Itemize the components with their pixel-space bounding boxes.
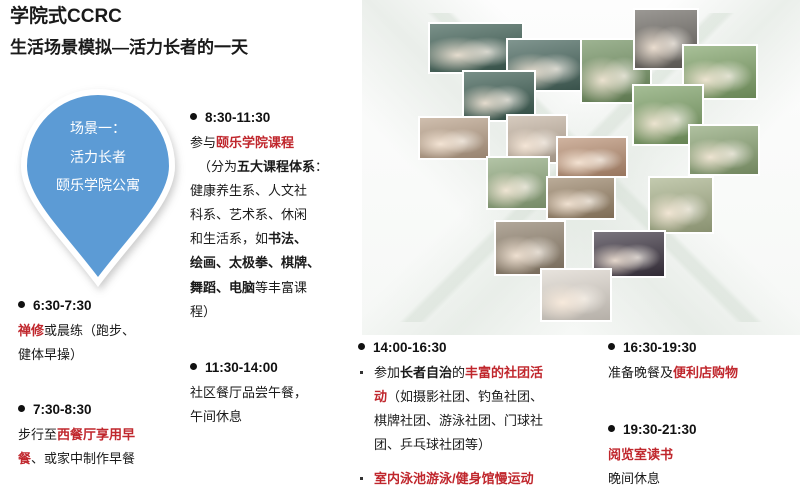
text-span: 步行至	[18, 427, 57, 442]
collage-photo-couple-relaxing-spa	[542, 270, 610, 320]
text-line: 棋牌社团、游泳社团、门球社	[374, 409, 588, 433]
text-span: 禅修	[18, 323, 44, 338]
text-line: 准备晚餐及便利店购物	[608, 361, 793, 385]
bullet-icon	[190, 113, 197, 120]
text-span: 等丰富课	[255, 280, 307, 295]
schedule-sub-item: 室内泳池游泳/健身馆慢运动	[358, 467, 588, 491]
scene-pin-shape	[18, 88, 178, 288]
text-line: 团、乒乓球社团等）	[374, 433, 588, 457]
schedule-time-1400: 14:00-16:30	[358, 338, 588, 358]
bullet-icon	[608, 425, 615, 432]
schedule-time-1930: 19:30-21:30	[608, 420, 793, 440]
text-span: 长者自治	[400, 365, 452, 380]
text-span: 室内泳池游泳/健身馆慢运动	[374, 471, 534, 486]
text-line: 午间休息	[190, 405, 355, 429]
text-line: 餐、或家中制作早餐	[18, 447, 198, 471]
text-span: 参加	[374, 365, 400, 380]
schedule-time-0830: 8:30-11:30	[190, 108, 355, 128]
text-line: 科系、艺术系、休闲	[190, 203, 355, 227]
text-span: 、或家中制作早餐	[31, 451, 135, 466]
text-span: 丰富的社团活	[465, 365, 543, 380]
text-line: 社区餐厅品尝午餐，	[190, 381, 355, 405]
page-title-main: 学院式CCRC	[10, 4, 360, 30]
text-span: 西餐厅享用早	[57, 427, 135, 442]
text-span: 书法、	[268, 231, 307, 246]
text-span: 便利店购物	[673, 365, 738, 380]
text-line: 参加长者自治的丰富的社团活	[374, 361, 588, 385]
text-span: 棋牌社团、游泳社团、门球社	[374, 413, 543, 428]
collage-photo-family-flowers-table	[558, 138, 626, 176]
collage-photo-grandparent-grandchild	[488, 158, 548, 208]
schedule-entry-0630: 6:30-7:30 禅修或晨练（跑步、健体早操）	[18, 296, 193, 367]
text-span: （分为	[198, 159, 237, 174]
text-line: （分为五大课程体系：	[190, 155, 355, 179]
schedule-entry-1400: 14:00-16:30 参加长者自治的丰富的社团活动（如摄影社团、钓鱼社团、棋牌…	[358, 338, 588, 491]
collage-photo-dining-with-friends	[420, 118, 488, 158]
text-span: 舞蹈、电脑	[190, 280, 255, 295]
bullet-icon	[18, 405, 25, 412]
bullet-icon	[608, 343, 615, 350]
text-span: 五大课程体系	[237, 159, 315, 174]
schedule-body-0830: 参与颐乐学院课程（分为五大课程体系：健康养生系、人文社科系、艺术系、休闲和生活系…	[190, 131, 355, 323]
text-span: 社区餐厅品尝午餐，	[190, 385, 307, 400]
text-line: 动（如摄影社团、钓鱼社团、	[374, 385, 588, 409]
text-line: 禅修或晨练（跑步、	[18, 319, 193, 343]
bullet-icon	[18, 301, 25, 308]
text-line: 参与颐乐学院课程	[190, 131, 355, 155]
text-span: 动	[374, 389, 387, 404]
text-line: 舞蹈、电脑等丰富课	[190, 276, 355, 300]
text-span: ：	[315, 159, 328, 174]
page-title: 学院式CCRC 生活场景模拟—活力长者的一天	[10, 4, 360, 60]
senior-lifestyle-photo-collage	[362, 0, 800, 335]
collage-photo-garden-play-child	[690, 126, 758, 174]
text-span: 的	[452, 365, 465, 380]
text-span: 准备晚餐及	[608, 365, 673, 380]
text-span: 餐	[18, 451, 31, 466]
schedule-time-1130: 11:30-14:00	[190, 358, 355, 378]
schedule-time-0630: 6:30-7:30	[18, 296, 193, 316]
text-span: 健康养生系、人文社	[190, 183, 307, 198]
schedule-body-0730: 步行至西餐厅享用早餐、或家中制作早餐	[18, 423, 198, 471]
text-span: 和生活系，如	[190, 231, 268, 246]
schedule-body-1130: 社区餐厅品尝午餐，午间休息	[190, 381, 355, 429]
text-span: 颐乐学院课程	[216, 135, 294, 150]
text-span: 阅览室读书	[608, 447, 673, 462]
text-line: 阅览室读书	[608, 443, 793, 467]
collage-photo-music-performance-hall	[496, 222, 564, 274]
text-span: 参与	[190, 135, 216, 150]
text-line: 健体早操）	[18, 343, 193, 367]
text-line: 和生活系，如书法、	[190, 227, 355, 251]
schedule-entry-0730: 7:30-8:30 步行至西餐厅享用早餐、或家中制作早餐	[18, 400, 198, 471]
text-span: 午间休息	[190, 409, 242, 424]
schedule-entry-1130: 11:30-14:00 社区餐厅品尝午餐，午间休息	[190, 358, 355, 429]
collage-photo-family-gathering-room	[548, 178, 614, 218]
bullet-icon	[190, 363, 197, 370]
text-line: 室内泳池游泳/健身馆慢运动	[374, 467, 588, 491]
schedule-body-1400: 参加长者自治的丰富的社团活动（如摄影社团、钓鱼社团、棋牌社团、游泳社团、门球社团…	[358, 361, 588, 491]
collage-photo-classroom-teaching-3	[464, 72, 534, 120]
text-span: 健体早操）	[18, 347, 83, 362]
text-line: 健康养生系、人文社	[190, 179, 355, 203]
schedule-body-1630: 准备晚餐及便利店购物	[608, 361, 793, 385]
text-span: 程）	[190, 304, 216, 319]
schedule-sub-item: 参加长者自治的丰富的社团活动（如摄影社团、钓鱼社团、棋牌社团、游泳社团、门球社团…	[358, 361, 588, 457]
text-line: 程）	[190, 300, 355, 324]
text-span: （如摄影社团、钓鱼社团、	[387, 389, 543, 404]
schedule-entry-0830: 8:30-11:30 参与颐乐学院课程（分为五大课程体系：健康养生系、人文社科系…	[190, 108, 355, 324]
collage-photo-grandfather-with-kid	[650, 178, 712, 232]
text-span: 或晨练（跑步、	[44, 323, 135, 338]
scene-pin: 场景一： 活力长者 颐乐学院公寓	[18, 88, 178, 288]
text-line: 绘画、太极拳、棋牌、	[190, 251, 355, 275]
page-title-sub: 生活场景模拟—活力长者的一天	[10, 37, 360, 60]
text-line: 晚间休息	[608, 467, 793, 491]
text-span: 科系、艺术系、休闲	[190, 207, 307, 222]
text-line: 步行至西餐厅享用早	[18, 423, 198, 447]
schedule-body-0630: 禅修或晨练（跑步、健体早操）	[18, 319, 193, 367]
schedule-body-1930: 阅览室读书晚间休息	[608, 443, 793, 491]
schedule-entry-1630: 16:30-19:30 准备晚餐及便利店购物	[608, 338, 793, 385]
schedule-entry-1930: 19:30-21:30 阅览室读书晚间休息	[608, 420, 793, 491]
bullet-icon	[358, 343, 365, 350]
text-span: 绘画、太极拳、棋牌、	[190, 255, 320, 270]
text-span: 晚间休息	[608, 471, 660, 486]
text-span: 团、乒乓球社团等）	[374, 437, 491, 452]
schedule-time-1630: 16:30-19:30	[608, 338, 793, 358]
schedule-time-0730: 7:30-8:30	[18, 400, 198, 420]
